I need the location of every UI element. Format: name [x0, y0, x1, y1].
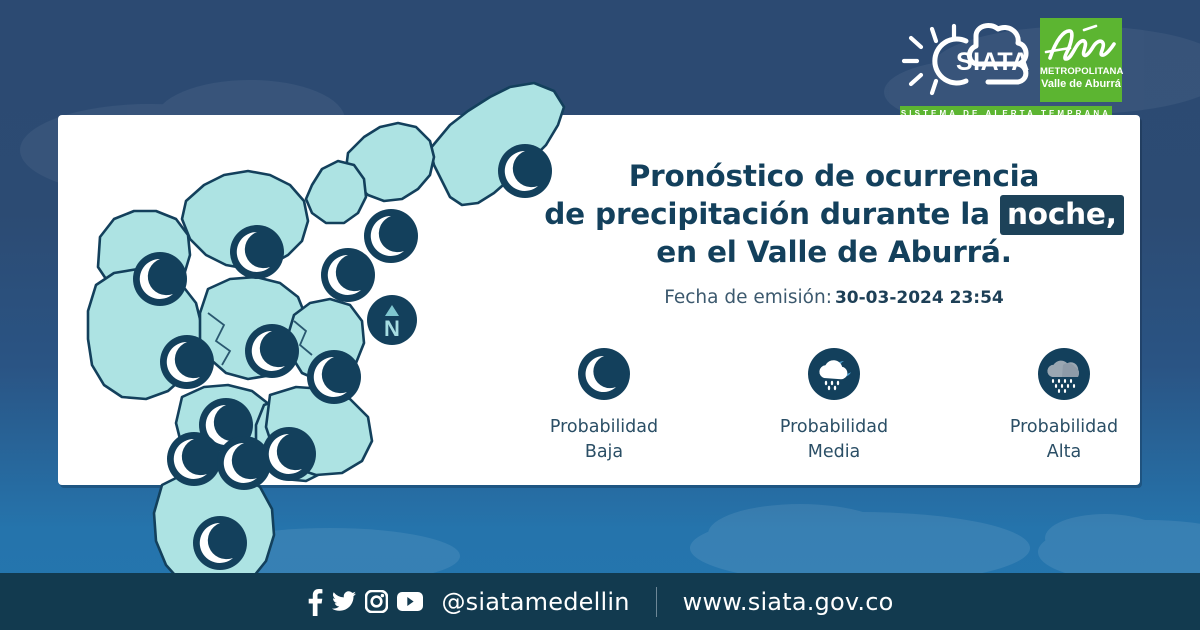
cloud-rain-moon-icon — [808, 348, 860, 400]
facebook-icon[interactable] — [306, 588, 323, 616]
marker-san-pedro[interactable] — [230, 225, 284, 279]
social-handle[interactable]: @siatamedellin — [441, 588, 629, 616]
siata-logo: SIATA — [892, 20, 1032, 102]
marker-girardota[interactable] — [364, 209, 418, 263]
marker-sur[interactable] — [193, 516, 247, 570]
marker-la-estrella[interactable] — [167, 432, 221, 486]
title-highlight-noche: noche, — [1000, 195, 1124, 235]
moon-icon — [578, 348, 630, 400]
legend-item-alta: Probabilidad Alta — [989, 348, 1139, 465]
marker-caldas[interactable] — [262, 427, 316, 481]
emission-date: Fecha de emisión:30-03-2024 23:54 — [528, 287, 1140, 308]
legend-label-baja-2: Baja — [529, 440, 679, 465]
area-subtitle-1: METROPOLITANA — [1040, 66, 1122, 77]
website-link[interactable]: www.siata.gov.co — [683, 588, 894, 616]
emission-label: Fecha de emisión: — [664, 287, 832, 308]
content-card: N Pronóstico de ocurrencia de precipitac… — [58, 115, 1140, 485]
marker-itagui[interactable] — [245, 324, 299, 378]
title-line-2: de precipitación durante la noche, — [528, 195, 1140, 233]
emission-value: 30-03-2024 23:54 — [835, 288, 1004, 308]
youtube-icon[interactable] — [397, 592, 423, 611]
map-svg: N — [58, 53, 578, 573]
logo-group: SIATA METROPOLITANA Valle de Aburrá SIST… — [892, 18, 1122, 114]
social-icon-group — [306, 588, 423, 616]
footer-divider — [656, 587, 657, 617]
legend-label-alta-2: Alta — [989, 440, 1139, 465]
area-metropolitana-logo: METROPOLITANA Valle de Aburrá — [1040, 18, 1122, 102]
legend-item-media: Probabilidad Media — [759, 348, 909, 465]
instagram-icon[interactable] — [365, 590, 388, 613]
marker-medellin[interactable] — [160, 335, 214, 389]
title-line-3: en el Valle de Aburrá. — [528, 233, 1140, 271]
siata-wordmark: SIATA — [956, 48, 1030, 76]
page-title: Pronóstico de ocurrencia de precipitació… — [528, 157, 1140, 271]
title-line-2-text: de precipitación durante la — [544, 197, 990, 231]
forecast-panel: Pronóstico de ocurrencia de precipitació… — [528, 157, 1140, 465]
compass-north-icon: N — [367, 295, 417, 345]
municipality-copacabana — [306, 161, 366, 223]
legend-item-baja: Probabilidad Baja — [529, 348, 679, 465]
marker-bello[interactable] — [133, 252, 187, 306]
marker-caldas-norte[interactable] — [217, 436, 271, 490]
legend: Probabilidad Baja Probabilidad — [528, 348, 1140, 465]
title-line-1: Pronóstico de ocurrencia — [528, 157, 1140, 195]
area-subtitle-2: Valle de Aburrá — [1040, 78, 1122, 90]
legend-label-alta-1: Probabilidad — [989, 415, 1139, 440]
marker-copacabana[interactable] — [321, 248, 375, 302]
marker-envigado[interactable] — [307, 350, 361, 404]
legend-label-media-2: Media — [759, 440, 909, 465]
compass-label: N — [384, 316, 400, 341]
legend-label-baja-1: Probabilidad — [529, 415, 679, 440]
map-valle-de-aburra: N — [58, 53, 578, 573]
area-script-icon — [1040, 22, 1122, 66]
twitter-icon[interactable] — [332, 591, 356, 613]
legend-label-media-1: Probabilidad — [759, 415, 909, 440]
footer-bar: @siatamedellin www.siata.gov.co — [0, 573, 1200, 630]
cloud-heavy-rain-icon — [1038, 348, 1090, 400]
